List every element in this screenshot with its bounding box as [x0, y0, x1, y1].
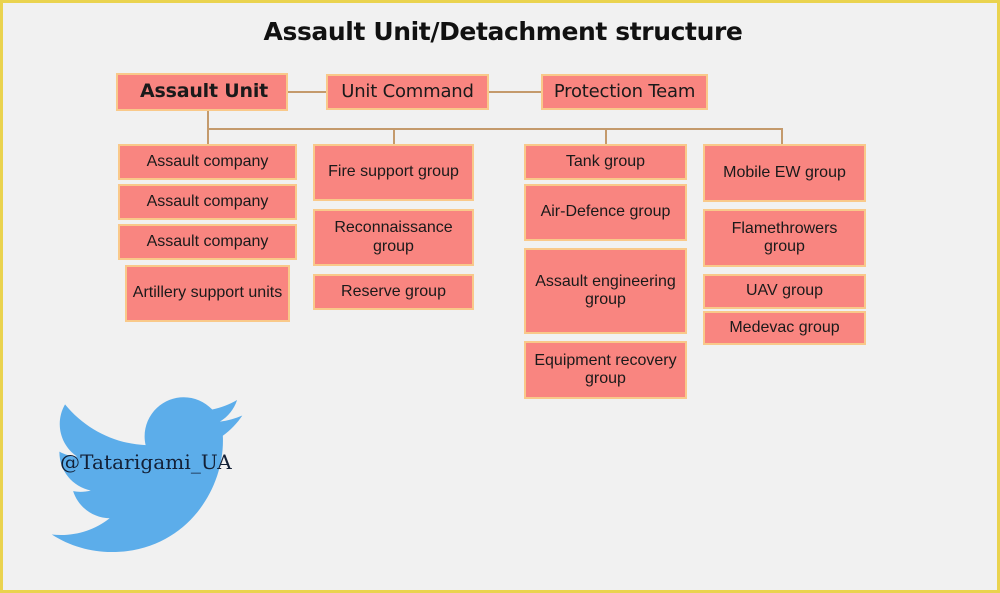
node-label: Tank group: [566, 153, 645, 171]
node-assault-engineering-group: Assault engineering group: [524, 248, 687, 334]
node-label: Assault Unit: [140, 81, 268, 102]
node-tank-group: Tank group: [524, 144, 687, 180]
node-label: Assault engineering group: [531, 273, 680, 309]
node-assault-company-3: Assault company: [118, 224, 297, 260]
node-protection-team: Protection Team: [541, 74, 708, 110]
node-label: Equipment recovery group: [531, 352, 680, 388]
node-air-defence-group: Air-Defence group: [524, 184, 687, 241]
node-flamethrowers-group: Flamethrowers group: [703, 209, 866, 267]
node-fire-support-group: Fire support group: [313, 144, 474, 201]
node-label: Reconnaissance group: [320, 219, 467, 255]
connector-root-drop: [207, 111, 209, 129]
node-reconnaissance-group: Reconnaissance group: [313, 209, 474, 266]
twitter-handle-label: @Tatarigami_UA: [60, 450, 232, 474]
page-title: Assault Unit/Detachment structure: [3, 17, 1000, 46]
node-equipment-recovery-group: Equipment recovery group: [524, 341, 687, 399]
node-label: Assault company: [147, 193, 269, 211]
connector-drop-column-4: [781, 128, 783, 145]
node-label: Air-Defence group: [541, 203, 671, 221]
connector-horizontal-bus: [207, 128, 783, 130]
connector-drop-column-1: [207, 128, 209, 145]
node-medevac-group: Medevac group: [703, 311, 866, 345]
node-unit-command: Unit Command: [326, 74, 489, 110]
node-reserve-group: Reserve group: [313, 274, 474, 310]
node-label: Mobile EW group: [723, 164, 846, 182]
node-label: Flamethrowers group: [710, 220, 859, 256]
node-mobile-ew-group: Mobile EW group: [703, 144, 866, 202]
node-label: UAV group: [746, 282, 823, 300]
connector-drop-column-2: [393, 128, 395, 145]
node-assault-company-1: Assault company: [118, 144, 297, 180]
node-label: Assault company: [147, 153, 269, 171]
node-assault-unit: Assault Unit: [116, 73, 288, 111]
connector-root-to-unit-command: [288, 91, 326, 93]
node-label: Assault company: [147, 233, 269, 251]
node-label: Reserve group: [341, 283, 446, 301]
node-assault-company-2: Assault company: [118, 184, 297, 220]
connector-drop-column-3: [605, 128, 607, 145]
diagram-canvas: Assault Unit/Detachment structure Assaul…: [0, 0, 1000, 593]
twitter-bird-icon: [51, 395, 243, 555]
node-label: Medevac group: [729, 319, 839, 337]
node-label: Unit Command: [341, 82, 473, 102]
node-label: Artillery support units: [133, 284, 282, 302]
node-uav-group: UAV group: [703, 274, 866, 309]
connector-unit-command-to-protection-team: [489, 91, 541, 93]
node-label: Fire support group: [328, 163, 459, 181]
node-label: Protection Team: [554, 82, 695, 102]
node-artillery-support-units: Artillery support units: [125, 265, 290, 322]
